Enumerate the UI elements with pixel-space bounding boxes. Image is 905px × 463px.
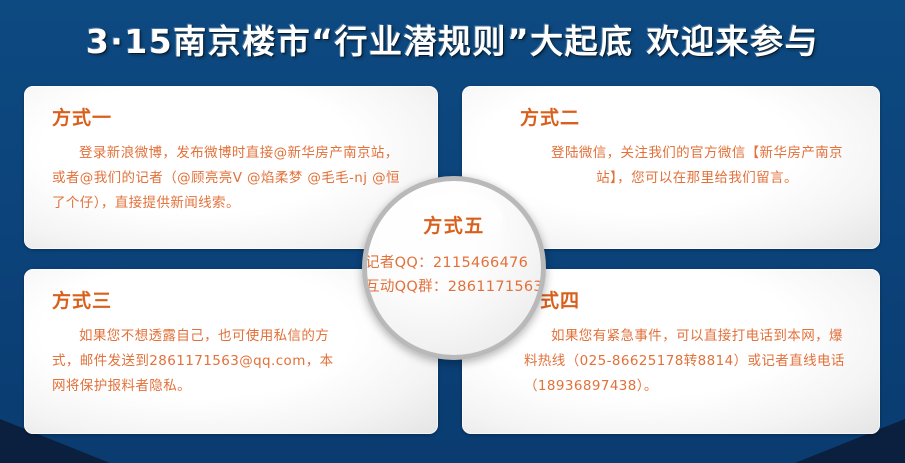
card-title-method-one: 方式一 bbox=[52, 108, 412, 129]
center-bubble-method-five: 方式五 记者QQ：2115466476 互动QQ群：2861171563 bbox=[362, 176, 546, 360]
bubble-contact-lines: 记者QQ：2115466476 互动QQ群：2861171563 bbox=[365, 252, 543, 300]
card-body-method-three: 如果您不想透露自己，也可使用私信的方式，邮件发送到2861171563@qq.c… bbox=[52, 324, 412, 399]
card-body-method-two: 登陆微信，关注我们的官方微信【新华房产南京站】，您可以在那里给我们留言。 bbox=[490, 141, 854, 191]
poster-root: 3·15南京楼市“行业潜规则”大起底 欢迎来参与 方式一 登录新浪微博，发布微博… bbox=[0, 0, 905, 463]
card-title-method-four: 方式四 bbox=[520, 291, 854, 312]
card-body-method-four: 如果您有紧急事件，可以直接打电话到本网，爆料热线（025-86625178转88… bbox=[490, 324, 854, 399]
bubble-line-qq-group: 互动QQ群：2861171563 bbox=[365, 276, 543, 300]
card-body-method-one: 登录新浪微博，发布微博时直接@新华房产南京站，或者@我们的记者（@顾亮亮V @焰… bbox=[52, 141, 412, 216]
card-title-method-two: 方式二 bbox=[520, 108, 854, 129]
bubble-line-reporter-qq: 记者QQ：2115466476 bbox=[365, 252, 543, 276]
card-title-method-three: 方式三 bbox=[52, 291, 412, 312]
bubble-title-method-five: 方式五 bbox=[423, 211, 485, 238]
title-bar: 3·15南京楼市“行业潜规则”大起底 欢迎来参与 bbox=[0, 8, 905, 70]
page-title: 3·15南京楼市“行业潜规则”大起底 欢迎来参与 bbox=[86, 15, 819, 63]
